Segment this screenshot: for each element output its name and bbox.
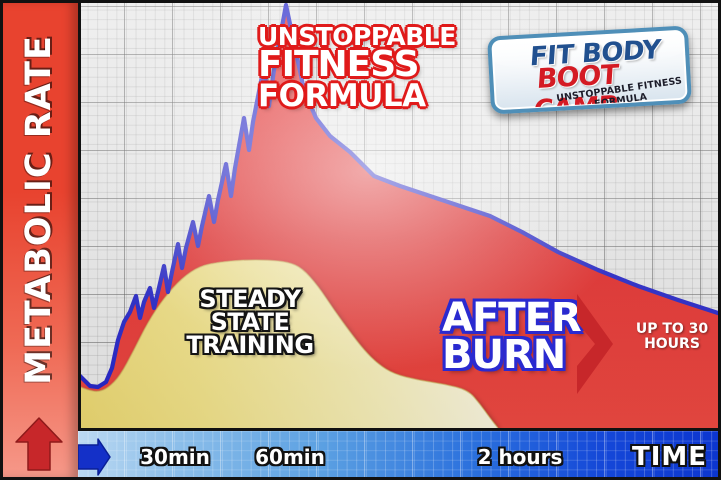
logo-inner: FIT BODY BOOT CAMP UNSTOPPABLE FITNESS F… [492, 31, 686, 110]
x-tick-2hours: 2 hours [478, 445, 563, 469]
steady-state-line-3: TRAINING [180, 334, 320, 357]
duration-callout: UP TO 30 HOURS [628, 322, 716, 353]
title-callout: UNSTOPPABLE FITNESS FORMULA [258, 25, 410, 111]
afterburn-callout: AFTER BURN [442, 300, 592, 374]
title-line-2: FITNESS [258, 48, 410, 81]
x-tick-30min: 30min [140, 445, 210, 469]
duration-line-2: HOURS [628, 337, 716, 352]
fit-body-boot-camp-logo[interactable]: FIT BODY BOOT CAMP UNSTOPPABLE FITNESS F… [487, 25, 692, 114]
y-axis: METABOLIC RATE [0, 0, 81, 480]
afterburn-line-2: BURN [442, 337, 592, 374]
x-tick-60min: 60min [255, 445, 325, 469]
chevron-right-icon [573, 290, 621, 398]
steady-state-callout: STEADY STATE TRAINING [180, 288, 320, 357]
right-arrow-icon [78, 437, 112, 477]
up-arrow-icon [14, 416, 64, 472]
metabolic-rate-chart-infographic: UNSTOPPABLE FITNESS FORMULA STEADY STATE… [0, 0, 721, 480]
x-axis: 30min 60min 2 hours TIME [78, 428, 721, 480]
title-line-3: FORMULA [258, 82, 410, 111]
duration-line-1: UP TO 30 [628, 322, 716, 337]
y-axis-label: METABOLIC RATE [0, 0, 78, 420]
x-axis-label: TIME [632, 442, 707, 472]
